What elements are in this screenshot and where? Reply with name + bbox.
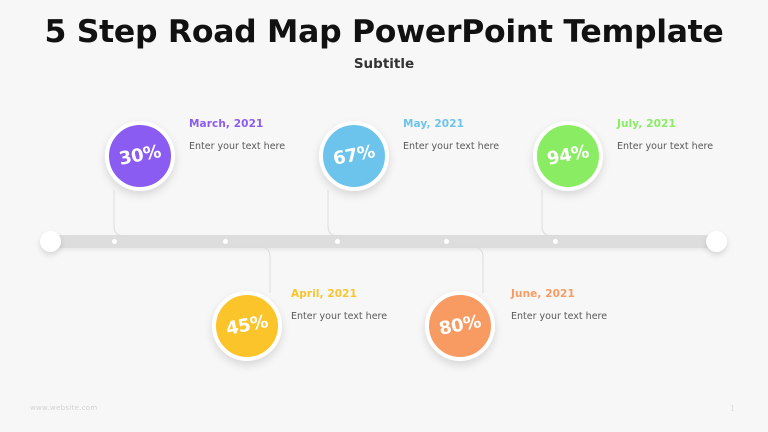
milestone-body-3: Enter your text here — [403, 141, 499, 152]
timeline-dot-2 — [223, 239, 228, 244]
milestone-date-3: May, 2021 — [403, 118, 499, 130]
connector-milestone-3 — [318, 190, 378, 240]
timeline-end-cap — [706, 231, 727, 252]
milestone-text-2: April, 2021 Enter your text here — [291, 288, 387, 322]
milestone-date-2: April, 2021 — [291, 288, 387, 300]
timeline-start-cap — [40, 231, 61, 252]
connector-milestone-1 — [104, 190, 164, 240]
milestone-body-1: Enter your text here — [189, 141, 285, 152]
page-title: 5 Step Road Map PowerPoint Template — [0, 14, 768, 50]
milestone-body-4: Enter your text here — [511, 311, 607, 322]
timeline-dot-5 — [553, 239, 558, 244]
milestone-date-5: July, 2021 — [617, 118, 713, 130]
milestone-percent-4: 80% — [438, 313, 483, 339]
milestone-body-2: Enter your text here — [291, 311, 387, 322]
milestone-text-4: June, 2021 Enter your text here — [511, 288, 607, 322]
milestone-circle-4[interactable]: 80% — [425, 291, 495, 361]
milestone-text-5: July, 2021 Enter your text here — [617, 118, 713, 152]
milestone-percent-3: 67% — [332, 143, 377, 169]
milestone-date-4: June, 2021 — [511, 288, 607, 300]
milestone-circle-2[interactable]: 45% — [212, 291, 282, 361]
footer-page-number: 1 — [730, 404, 735, 413]
milestone-text-1: March, 2021 Enter your text here — [189, 118, 285, 152]
footer-website-link[interactable]: www.website.com — [30, 404, 98, 412]
page-subtitle: Subtitle — [0, 56, 768, 72]
timeline-dot-4 — [444, 239, 449, 244]
milestone-circle-3[interactable]: 67% — [319, 121, 389, 191]
slide-canvas: 5 Step Road Map PowerPoint Template Subt… — [0, 0, 768, 432]
milestone-percent-1: 30% — [118, 143, 163, 169]
timeline-bar — [50, 235, 718, 248]
connector-milestone-5 — [532, 190, 592, 240]
milestone-circle-5[interactable]: 94% — [533, 121, 603, 191]
milestone-date-1: March, 2021 — [189, 118, 285, 130]
timeline-dot-1 — [112, 239, 117, 244]
milestone-text-3: May, 2021 Enter your text here — [403, 118, 499, 152]
milestone-percent-5: 94% — [546, 143, 591, 169]
milestone-circle-1[interactable]: 30% — [105, 121, 175, 191]
milestone-percent-2: 45% — [225, 313, 270, 339]
milestone-body-5: Enter your text here — [617, 141, 713, 152]
timeline-dot-3 — [335, 239, 340, 244]
